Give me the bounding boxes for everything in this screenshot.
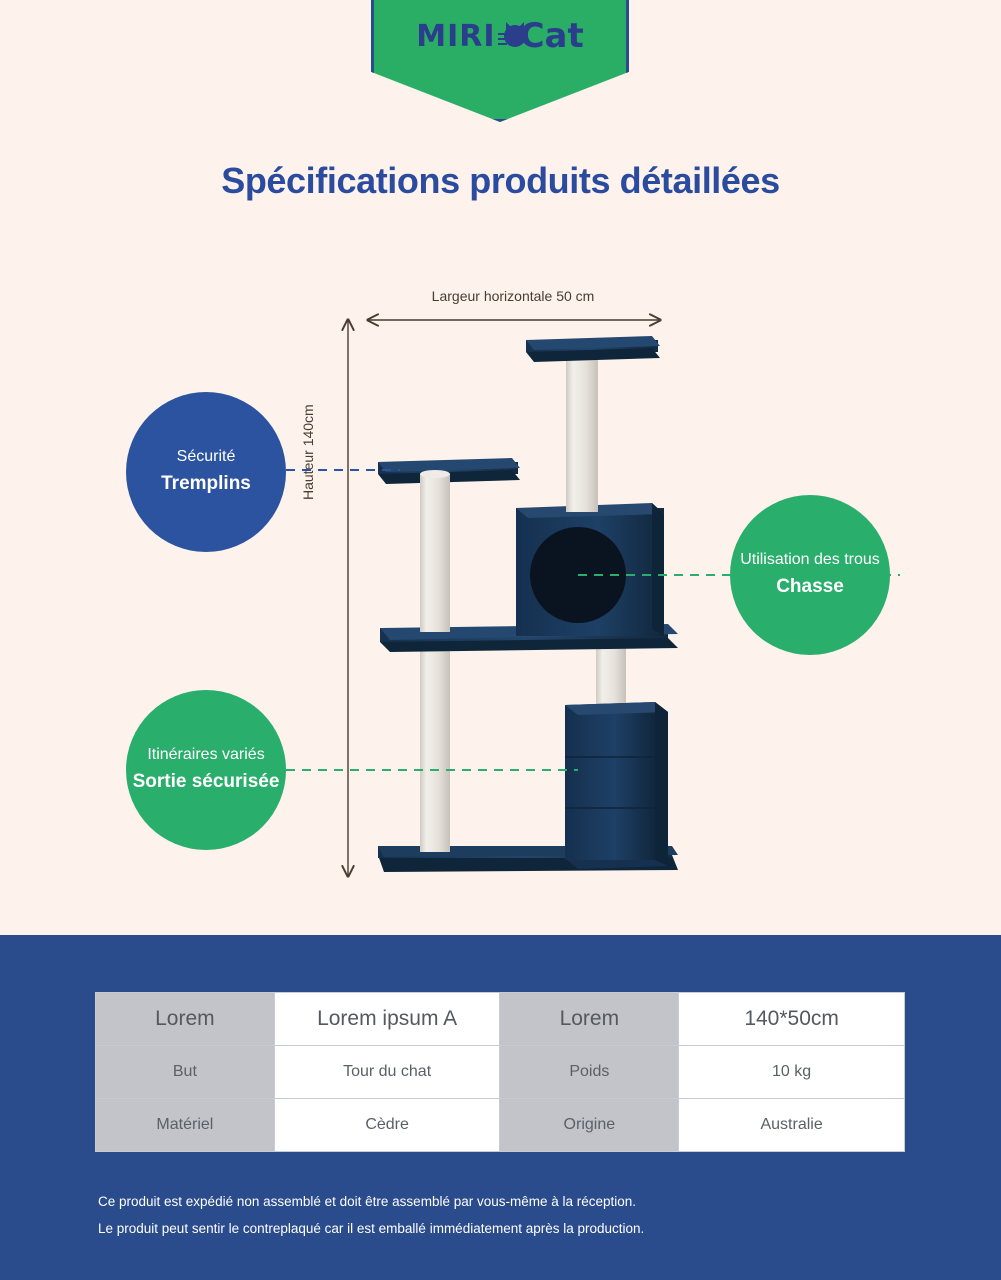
- callout-tremplins[interactable]: Sécurité Tremplins: [126, 392, 286, 552]
- footnote-line-1: Ce produit est expédié non assemblé et d…: [98, 1188, 644, 1215]
- footnotes: Ce produit est expédié non assemblé et d…: [98, 1188, 644, 1242]
- callout-sortie[interactable]: Itinéraires variés Sortie sécurisée: [126, 690, 286, 850]
- spec-value: Cèdre: [274, 1099, 500, 1152]
- spec-label: Origine: [500, 1099, 679, 1152]
- callout-chasse-subtitle: Utilisation des trous: [740, 548, 880, 572]
- product-diagram: Largeur horizontale 50 cm Hauteur 140cm: [0, 0, 1001, 935]
- table-row: Matériel Cèdre Origine Australie: [96, 1099, 905, 1152]
- callout-tremplins-title: Tremplins: [161, 469, 251, 499]
- spec-value: Tour du chat: [274, 1046, 500, 1099]
- callout-chasse-title: Chasse: [776, 572, 844, 602]
- spec-label: Lorem: [96, 993, 275, 1046]
- specs-panel: Lorem Lorem ipsum A Lorem 140*50cm But T…: [0, 935, 1001, 1280]
- callout-chasse[interactable]: Utilisation des trous Chasse: [730, 495, 890, 655]
- height-dimension-label: Hauteur 140cm: [300, 360, 316, 500]
- spec-value: 140*50cm: [679, 993, 905, 1046]
- table-row: Lorem Lorem ipsum A Lorem 140*50cm: [96, 993, 905, 1046]
- width-dimension-label: Largeur horizontale 50 cm: [363, 288, 663, 304]
- spec-value: 10 kg: [679, 1046, 905, 1099]
- spec-label: But: [96, 1046, 275, 1099]
- footnote-line-2: Le produit peut sentir le contreplaqué c…: [98, 1215, 644, 1242]
- table-row: But Tour du chat Poids 10 kg: [96, 1046, 905, 1099]
- callout-tremplins-subtitle: Sécurité: [177, 445, 236, 469]
- spec-value: Australie: [679, 1099, 905, 1152]
- spec-value: Lorem ipsum A: [274, 993, 500, 1046]
- spec-label: Lorem: [500, 993, 679, 1046]
- callout-sortie-subtitle: Itinéraires variés: [147, 743, 264, 767]
- product-spec-page: MIRI Cat Spécifications produits détaill…: [0, 0, 1001, 1280]
- callout-sortie-title: Sortie sécurisée: [133, 767, 280, 797]
- spec-label: Poids: [500, 1046, 679, 1099]
- specifications-table: Lorem Lorem ipsum A Lorem 140*50cm But T…: [95, 992, 905, 1152]
- spec-label: Matériel: [96, 1099, 275, 1152]
